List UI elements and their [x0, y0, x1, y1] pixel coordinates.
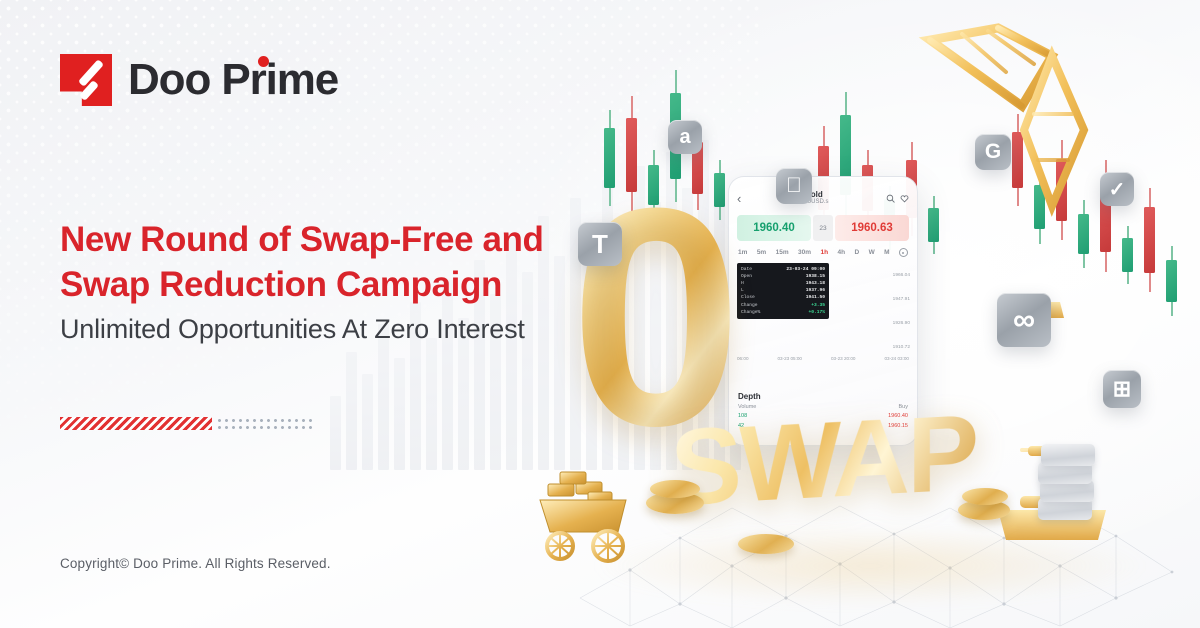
gold-swap-word: SWAP	[670, 398, 976, 522]
tooltip-date-value: 23-03-24 09:00	[786, 266, 825, 273]
tooltip-key: Open	[741, 273, 752, 280]
tooltip-key: Change	[741, 302, 758, 309]
divider-stripes	[60, 417, 212, 430]
tooltip-date-label: Date	[741, 266, 752, 273]
page-title: New Round of Swap-Free and Swap Reductio…	[60, 218, 620, 308]
tooltip-row: Open1938.15	[741, 273, 825, 280]
subheadline: Unlimited Opportunities At Zero Interest	[60, 310, 525, 348]
amazon-logo-icon: a	[668, 120, 702, 154]
metal-barrel-stack	[1038, 440, 1096, 520]
tooltip-row: L1937.96	[741, 287, 825, 294]
meta-logo-icon: ∞	[997, 293, 1051, 347]
spread-value: 23	[813, 215, 833, 241]
timeframe-tabs[interactable]: 1m5m15m30m1h4hDWM	[737, 248, 909, 257]
watermark-bar	[346, 352, 357, 470]
tooltip-date-row: Date 23-03-24 09:00	[741, 266, 825, 273]
google-logo-icon: G	[975, 134, 1011, 170]
timeframe-tab-1h[interactable]: 1h	[820, 249, 828, 256]
time-label: 03-23 20:00	[831, 356, 856, 361]
microsoft-logo-icon: ⊞	[1103, 370, 1141, 408]
heart-icon[interactable]	[900, 194, 909, 203]
tooltip-key: Close	[741, 294, 755, 301]
timeframe-tab-M[interactable]: M	[884, 249, 889, 256]
gear-icon[interactable]	[899, 248, 908, 257]
tooltip-rows: Open1938.15H1943.18L1937.96Close1941.50C…	[741, 273, 825, 316]
brand-dot-accent	[258, 56, 269, 67]
timeframe-tab-W[interactable]: W	[869, 249, 875, 256]
banner-stage: ‹ Gold XAUUSD.s	[0, 0, 1200, 628]
timeframe-tab-4h[interactable]: 4h	[837, 249, 845, 256]
brand-name: Doo Prime	[128, 58, 338, 102]
price-axis-labels: 1966.041947.911926.901910.72	[893, 273, 910, 350]
candlestick	[1166, 246, 1177, 316]
watermark-bar	[442, 280, 453, 470]
doo-prime-logo-icon	[60, 54, 112, 106]
tooltip-value: 1943.18	[806, 280, 825, 287]
gold-coin	[962, 488, 1008, 505]
time-label: 03-23 05:00	[777, 356, 802, 361]
symbol-name: Gold	[741, 190, 886, 199]
tooltip-key: H	[741, 280, 744, 287]
app-header-actions	[886, 194, 909, 203]
price-label: 1910.72	[893, 345, 910, 350]
brand-logo[interactable]: Doo Prime	[60, 54, 338, 106]
bid-price: 1960.40	[753, 222, 795, 234]
app-header: ‹ Gold XAUUSD.s	[737, 186, 909, 210]
time-label: 03-24 03:00	[884, 356, 909, 361]
ohlc-tooltip: Date 23-03-24 09:00 Open1938.15H1943.18L…	[737, 263, 829, 319]
timeframe-tab-30m[interactable]: 30m	[798, 249, 811, 256]
tooltip-value: 1938.15	[806, 273, 825, 280]
decorative-divider	[60, 417, 316, 430]
tooltip-key: Change%	[741, 309, 760, 316]
tooltip-row: Change%+0.17%	[741, 309, 825, 316]
tooltip-key: L	[741, 287, 744, 294]
search-icon[interactable]	[886, 194, 895, 203]
tooltip-row: Change+3.35	[741, 302, 825, 309]
tooltip-row: H1943.18	[741, 280, 825, 287]
price-label: 1947.91	[893, 297, 910, 302]
copyright-text: Copyright© Doo Prime. All Rights Reserve…	[60, 556, 331, 571]
symbol-code: XAUUSD.s	[741, 199, 886, 206]
brand-name-text: Doo Prime	[128, 55, 338, 104]
tooltip-value: +0.17%	[808, 309, 825, 316]
time-axis-labels: 06:0003-23 05:0003-23 20:0003-24 03:00	[737, 356, 909, 361]
hero-artwork: ‹ Gold XAUUSD.s	[560, 0, 1200, 628]
watermark-bar	[426, 338, 437, 470]
watermark-bar	[394, 358, 405, 470]
price-label: 1966.04	[893, 273, 910, 278]
bid-price-cell[interactable]: 1960.40	[737, 215, 811, 241]
tooltip-value: 1941.50	[806, 294, 825, 301]
watermark-bar	[362, 374, 373, 470]
timeframe-tab-1m[interactable]: 1m	[738, 249, 747, 256]
timeframe-tab-D[interactable]: D	[854, 249, 859, 256]
nike-logo-icon: ✓	[1100, 172, 1134, 206]
timeframe-tab-15m[interactable]: 15m	[776, 249, 789, 256]
watermark-bar	[330, 396, 341, 470]
ask-price: 1960.63	[851, 222, 893, 234]
timeframe-tab-5m[interactable]: 5m	[757, 249, 766, 256]
apple-logo-icon: 	[776, 168, 812, 204]
price-label: 1926.90	[893, 321, 910, 326]
tooltip-value: +3.35	[811, 302, 825, 309]
divider-dots	[216, 417, 316, 430]
ask-price-cell[interactable]: 1960.63	[835, 215, 909, 241]
floor-glow	[590, 526, 1150, 606]
symbol-title-block: Gold XAUUSD.s	[741, 190, 886, 206]
tooltip-row: Close1941.50	[741, 294, 825, 301]
tooltip-value: 1937.96	[806, 287, 825, 294]
time-label: 06:00	[737, 356, 749, 361]
quote-row: 1960.40 23 1960.63	[737, 215, 909, 241]
gold-coin	[650, 480, 700, 498]
